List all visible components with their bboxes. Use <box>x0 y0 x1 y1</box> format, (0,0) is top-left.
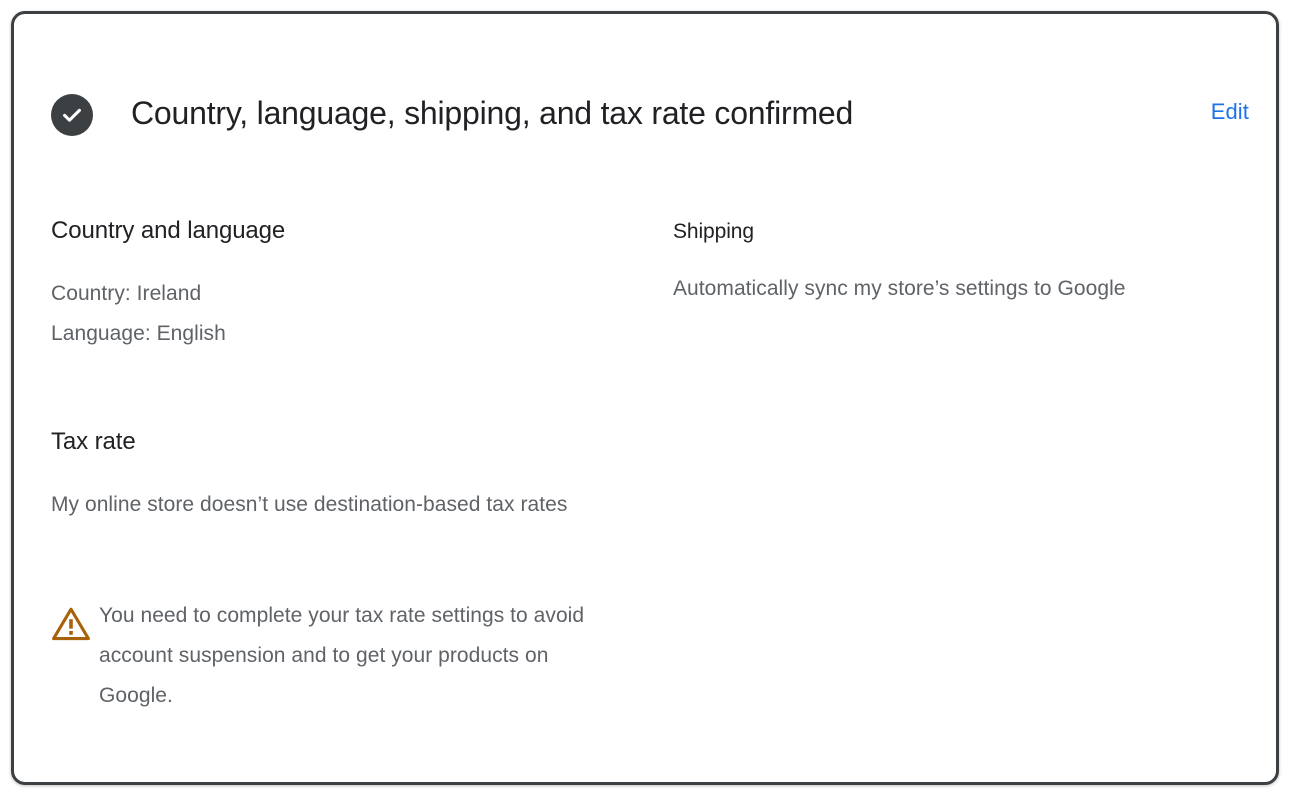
country-language-details: Country: Ireland Language: English <box>51 274 631 354</box>
status-card: Country, language, shipping, and tax rat… <box>11 11 1279 785</box>
card-content: Country and language Country: Ireland La… <box>14 134 1276 782</box>
edit-button[interactable]: Edit <box>1211 94 1249 130</box>
tax-rate-heading: Tax rate <box>51 426 631 458</box>
check-circle-icon <box>51 94 93 136</box>
country-language-heading: Country and language <box>51 215 631 247</box>
section-shipping: Shipping Automatically sync my store’s s… <box>673 217 1219 309</box>
section-tax-rate: Tax rate My online store doesn’t use des… <box>51 426 631 525</box>
language-value: Language: English <box>51 314 631 354</box>
tax-rate-warning-text: You need to complete your tax rate setti… <box>99 596 591 716</box>
country-value: Country: Ireland <box>51 274 631 314</box>
tax-rate-warning: You need to complete your tax rate setti… <box>51 596 591 716</box>
section-country-and-language: Country and language Country: Ireland La… <box>51 215 631 354</box>
tax-rate-description: My online store doesn’t use destination-… <box>51 485 581 525</box>
card-header: Country, language, shipping, and tax rat… <box>14 14 1276 134</box>
page-title: Country, language, shipping, and tax rat… <box>131 89 853 137</box>
shipping-heading: Shipping <box>673 217 1219 247</box>
shipping-description: Automatically sync my store’s settings t… <box>673 269 1213 309</box>
warning-triangle-icon <box>51 606 99 642</box>
